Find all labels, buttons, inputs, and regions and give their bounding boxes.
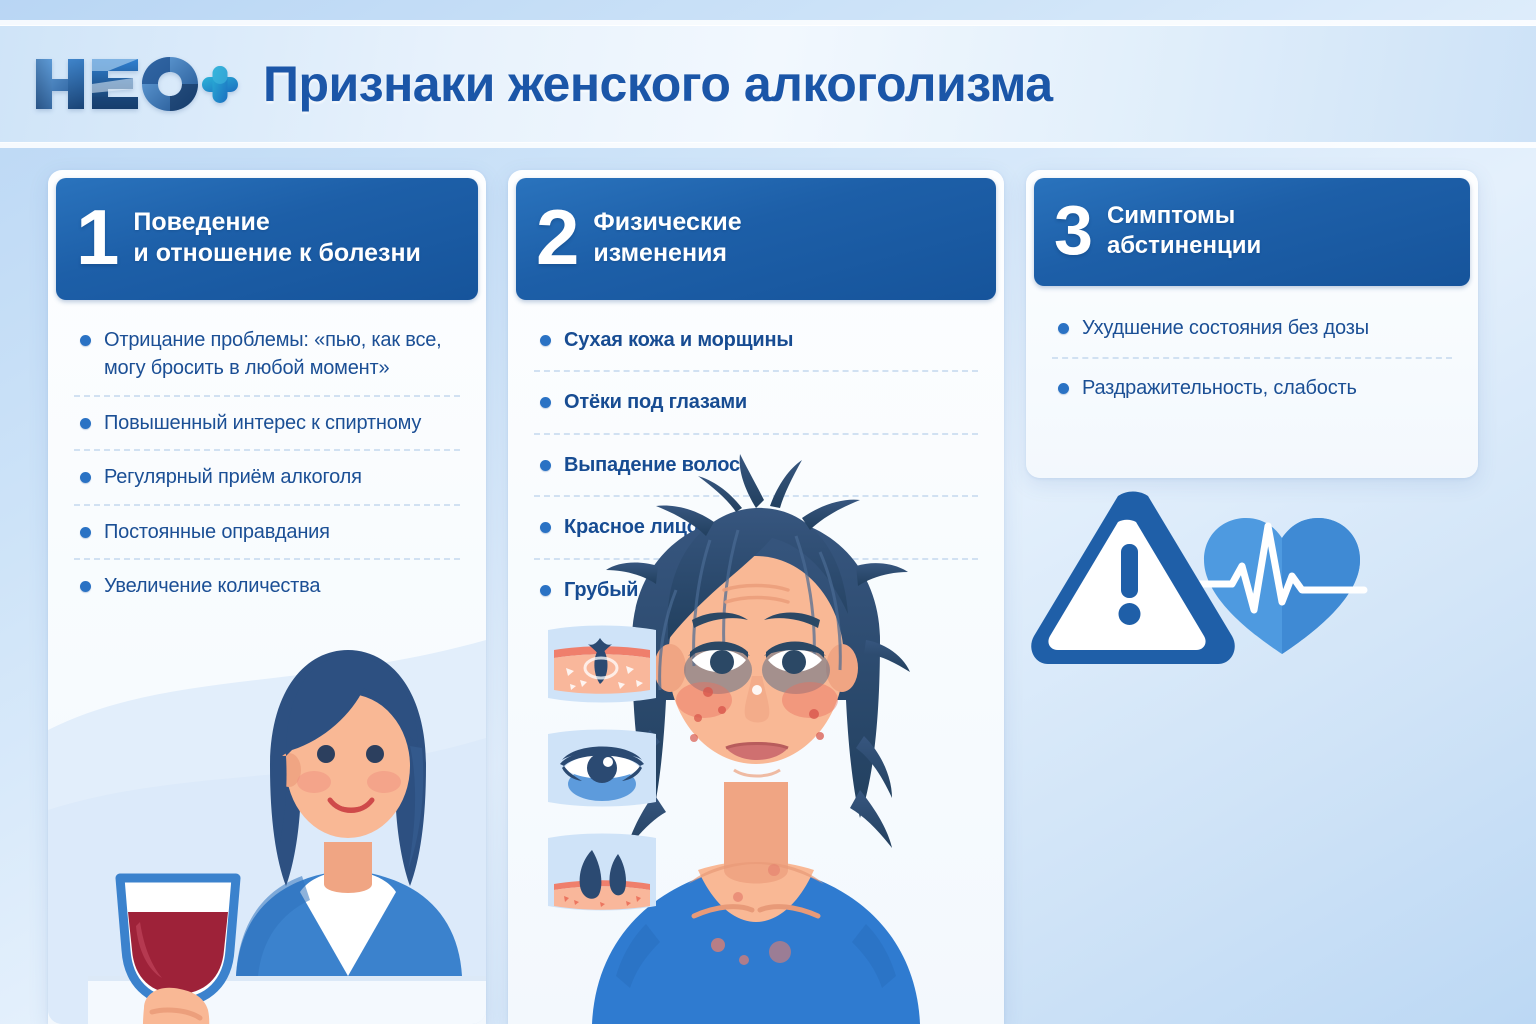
card-2-title-line2: изменения xyxy=(593,238,741,269)
list-item: Повышенный интерес к спиртному xyxy=(74,409,464,437)
card-behavior: 1 Поведение и отношение к болезни Отрица… xyxy=(48,170,486,1024)
list-item: Отёки под глазами xyxy=(534,388,982,416)
card-3-title-line1: Симптомы xyxy=(1107,201,1261,231)
card-3-title: Симптомы абстиненции xyxy=(1107,201,1261,261)
separator xyxy=(74,449,460,451)
card-2-number: 2 xyxy=(536,206,579,270)
bullet-icon xyxy=(1058,323,1069,334)
page-title: Признаки женского алкоголизма xyxy=(263,55,1053,113)
list-item: Сухая кожа и морщины xyxy=(534,326,982,354)
hair-loss-icon xyxy=(540,828,664,916)
bullet-icon xyxy=(540,460,551,471)
list-item-label: Сухая кожа и морщины xyxy=(564,326,982,354)
bullet-icon xyxy=(80,472,91,483)
cards-container: 1 Поведение и отношение к болезни Отрица… xyxy=(0,170,1536,1024)
card-3-number: 3 xyxy=(1054,202,1093,259)
list-item-label: Увеличение количества xyxy=(104,572,464,600)
separator xyxy=(1052,357,1452,359)
separator xyxy=(534,370,978,372)
card-1-body: Отрицание проблемы: «пью, как все, могу … xyxy=(48,300,486,600)
list-item: Постоянные оправдания xyxy=(74,518,464,546)
neo-plus-logo xyxy=(34,49,239,119)
bullet-icon xyxy=(80,335,91,346)
card-2-body: Сухая кожа и морщины Отёки под глазами В… xyxy=(508,300,1004,604)
card-2-header: 2 Физические изменения xyxy=(516,178,996,300)
list-item: Увеличение количества xyxy=(74,572,464,600)
logo-letter-e xyxy=(92,59,138,109)
separator xyxy=(74,504,460,506)
card-1-header: 1 Поведение и отношение к болезни xyxy=(56,178,478,300)
eye-with-bag-icon xyxy=(540,724,664,812)
card-withdrawal-symptoms: 3 Симптомы абстиненции Ухудшение состоян… xyxy=(1026,170,1478,478)
bullet-icon xyxy=(540,522,551,533)
bullet-icon xyxy=(540,585,551,596)
separator xyxy=(74,558,460,560)
separator xyxy=(534,558,978,560)
separator xyxy=(74,395,460,397)
medical-thumbnails xyxy=(540,620,670,920)
list-item-label: Ухудшение состояния без дозы xyxy=(1082,314,1456,342)
list-item: Регулярный приём алкоголя xyxy=(74,463,464,491)
bullet-icon xyxy=(1058,383,1069,394)
separator xyxy=(534,433,978,435)
card-1-title-line1: Поведение xyxy=(133,207,421,238)
list-item: Отрицание проблемы: «пью, как все, могу … xyxy=(74,326,464,383)
list-item: Красное лицо xyxy=(534,513,982,541)
list-item-label: Регулярный приём алкоголя xyxy=(104,463,464,491)
list-item: Ухудшение состояния без дозы xyxy=(1052,314,1456,342)
skin-follicle-icon xyxy=(540,620,664,708)
bullet-icon xyxy=(80,581,91,592)
list-item-label: Раздражительность, слабость xyxy=(1082,374,1456,402)
card-3-body: Ухудшение состояния без дозы Раздражител… xyxy=(1026,286,1478,403)
card-1-title: Поведение и отношение к болезни xyxy=(133,207,421,269)
bullet-icon xyxy=(80,527,91,538)
list-item-label: Отрицание проблемы: «пью, как все, могу … xyxy=(104,326,464,383)
logo-letter-n xyxy=(36,59,84,109)
list-item: Грубый голос xyxy=(534,576,982,604)
bullet-icon xyxy=(80,418,91,429)
card-3-list: Ухудшение состояния без дозы Раздражител… xyxy=(1052,314,1456,403)
list-item-label: Красное лицо xyxy=(564,513,982,541)
list-item-label: Постоянные оправдания xyxy=(104,518,464,546)
list-item-label: Повышенный интерес к спиртному xyxy=(104,409,464,437)
list-item-label: Грубый голос xyxy=(564,576,982,604)
logo-letter-o xyxy=(142,57,198,111)
separator xyxy=(534,495,978,497)
logo-plus-icon xyxy=(202,66,238,103)
card-2-title-line1: Физические xyxy=(593,207,741,238)
card-1-title-line2: и отношение к болезни xyxy=(133,238,421,269)
list-item: Раздражительность, слабость xyxy=(1052,374,1456,402)
card-2-list: Сухая кожа и морщины Отёки под глазами В… xyxy=(534,326,982,604)
card-2-title: Физические изменения xyxy=(593,207,741,269)
list-item-label: Выпадение волос xyxy=(564,451,982,479)
list-item-label: Отёки под глазами xyxy=(564,388,982,416)
page-header: Признаки женского алкоголизма xyxy=(0,25,1536,143)
bullet-icon xyxy=(540,335,551,346)
card-3-header: 3 Симптомы абстиненции xyxy=(1034,178,1470,286)
bullet-icon xyxy=(540,397,551,408)
card-1-number: 1 xyxy=(76,206,119,270)
card-3-title-line2: абстиненции xyxy=(1107,231,1261,261)
card-1-list: Отрицание проблемы: «пью, как все, могу … xyxy=(74,326,464,600)
list-item: Выпадение волос xyxy=(534,451,982,479)
